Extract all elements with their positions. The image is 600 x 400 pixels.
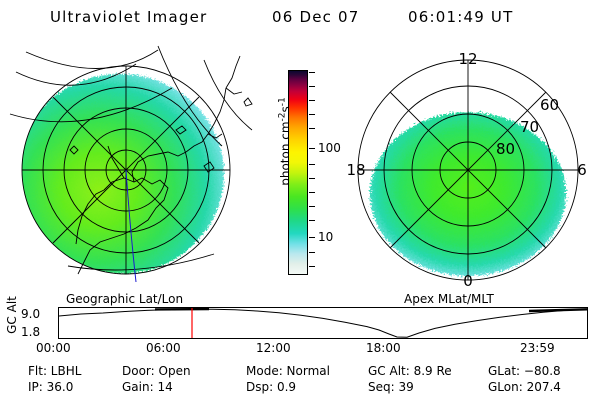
observation-time: 06:01:49 UT [408,8,513,26]
status-mode: Mode: Normal [246,364,330,378]
status-dsp: Dsp: 0.9 [246,380,296,394]
colorbar-group: photon cm-2s-1 100 10 [264,60,342,290]
colorbar-units-exp1: -2 [278,112,288,121]
mlat-label-70: 70 [520,118,539,136]
colorbar-minor-tick [309,86,315,87]
mlat-label-80: 80 [496,140,515,158]
mlt-label-12: 12 [458,50,477,68]
colorbar-minor-tick [309,128,315,129]
time-tick-1800: 18:00 [366,342,401,354]
mlat-mlt-grid [358,60,578,280]
gc-alt-tick-high: 9.0 [21,308,40,320]
colorbar-minor-tick [309,266,315,267]
colorbar-units-exp2: -1 [278,97,288,106]
geographic-polar-svg [8,42,260,290]
orbit-altitude-group: Geographic Lat/Lon Apex MLat/MLT GC Alt … [0,292,600,358]
instrument-title: Ultraviolet Imager [50,8,207,26]
status-gcalt: GC Alt: 8.9 Re [368,364,452,378]
aurora-emission-geographic [16,74,224,274]
mlt-label-6: 6 [577,161,587,179]
status-glon: GLon: 207.4 [488,380,561,394]
mlt-label-18: 18 [346,161,365,179]
colorbar-minor-tick [309,72,315,73]
apex-polar-svg: 12 6 0 18 60 70 80 [344,42,592,290]
time-tick-0000: 00:00 [36,342,71,354]
colorbar-minor-tick [309,100,315,101]
altitude-curve-svg [59,308,587,338]
status-footer: Flt: LBHL IP: 36.0 Door: Open Gain: 14 M… [0,364,600,398]
status-seq: Seq: 39 [368,380,414,394]
colorbar-minor-tick [309,114,315,115]
colorbar-minor-tick [309,220,315,221]
time-tick-0600: 06:00 [146,342,181,354]
mlt-label-0: 0 [463,272,473,290]
geographic-plot-caption: Geographic Lat/Lon [66,292,183,306]
colorbar-minor-tick [309,206,315,207]
time-tick-1200: 12:00 [256,342,291,354]
gc-alt-axis-label: GC Alt [5,289,19,341]
status-glat: GLat: −80.8 [488,364,561,378]
status-ip: IP: 36.0 [28,380,73,394]
colorbar-gradient[interactable] [288,70,308,275]
status-door: Door: Open [122,364,191,378]
gc-alt-tick-low: 1.8 [21,326,40,338]
gc-altitude-curve [59,309,587,337]
header-bar: Ultraviolet Imager 06 Dec 07 06:01:49 UT [0,8,600,34]
colorbar-minor-tick [309,164,315,165]
colorbar-tick-label-10: 10 [318,231,333,243]
colorbar-tick-label-100: 100 [318,142,341,154]
apex-plot-caption: Apex MLat/MLT [404,292,494,306]
mlat-label-60: 60 [540,96,559,114]
colorbar-minor-tick [309,178,315,179]
status-flt: Flt: LBHL [28,364,81,378]
time-tick-2359: 23:59 [520,342,555,354]
observation-date: 06 Dec 07 [272,8,360,26]
colorbar-minor-tick [309,252,315,253]
altitude-track-plot[interactable] [58,307,588,339]
status-gain: Gain: 14 [122,380,173,394]
colorbar-minor-tick [309,192,315,193]
colorbar-major-tick [309,148,315,149]
apex-image-panel[interactable]: 12 6 0 18 60 70 80 [344,42,592,290]
geographic-image-panel[interactable] [8,42,260,290]
orbit-segment-highlight [529,309,587,311]
colorbar-major-tick [309,237,315,238]
